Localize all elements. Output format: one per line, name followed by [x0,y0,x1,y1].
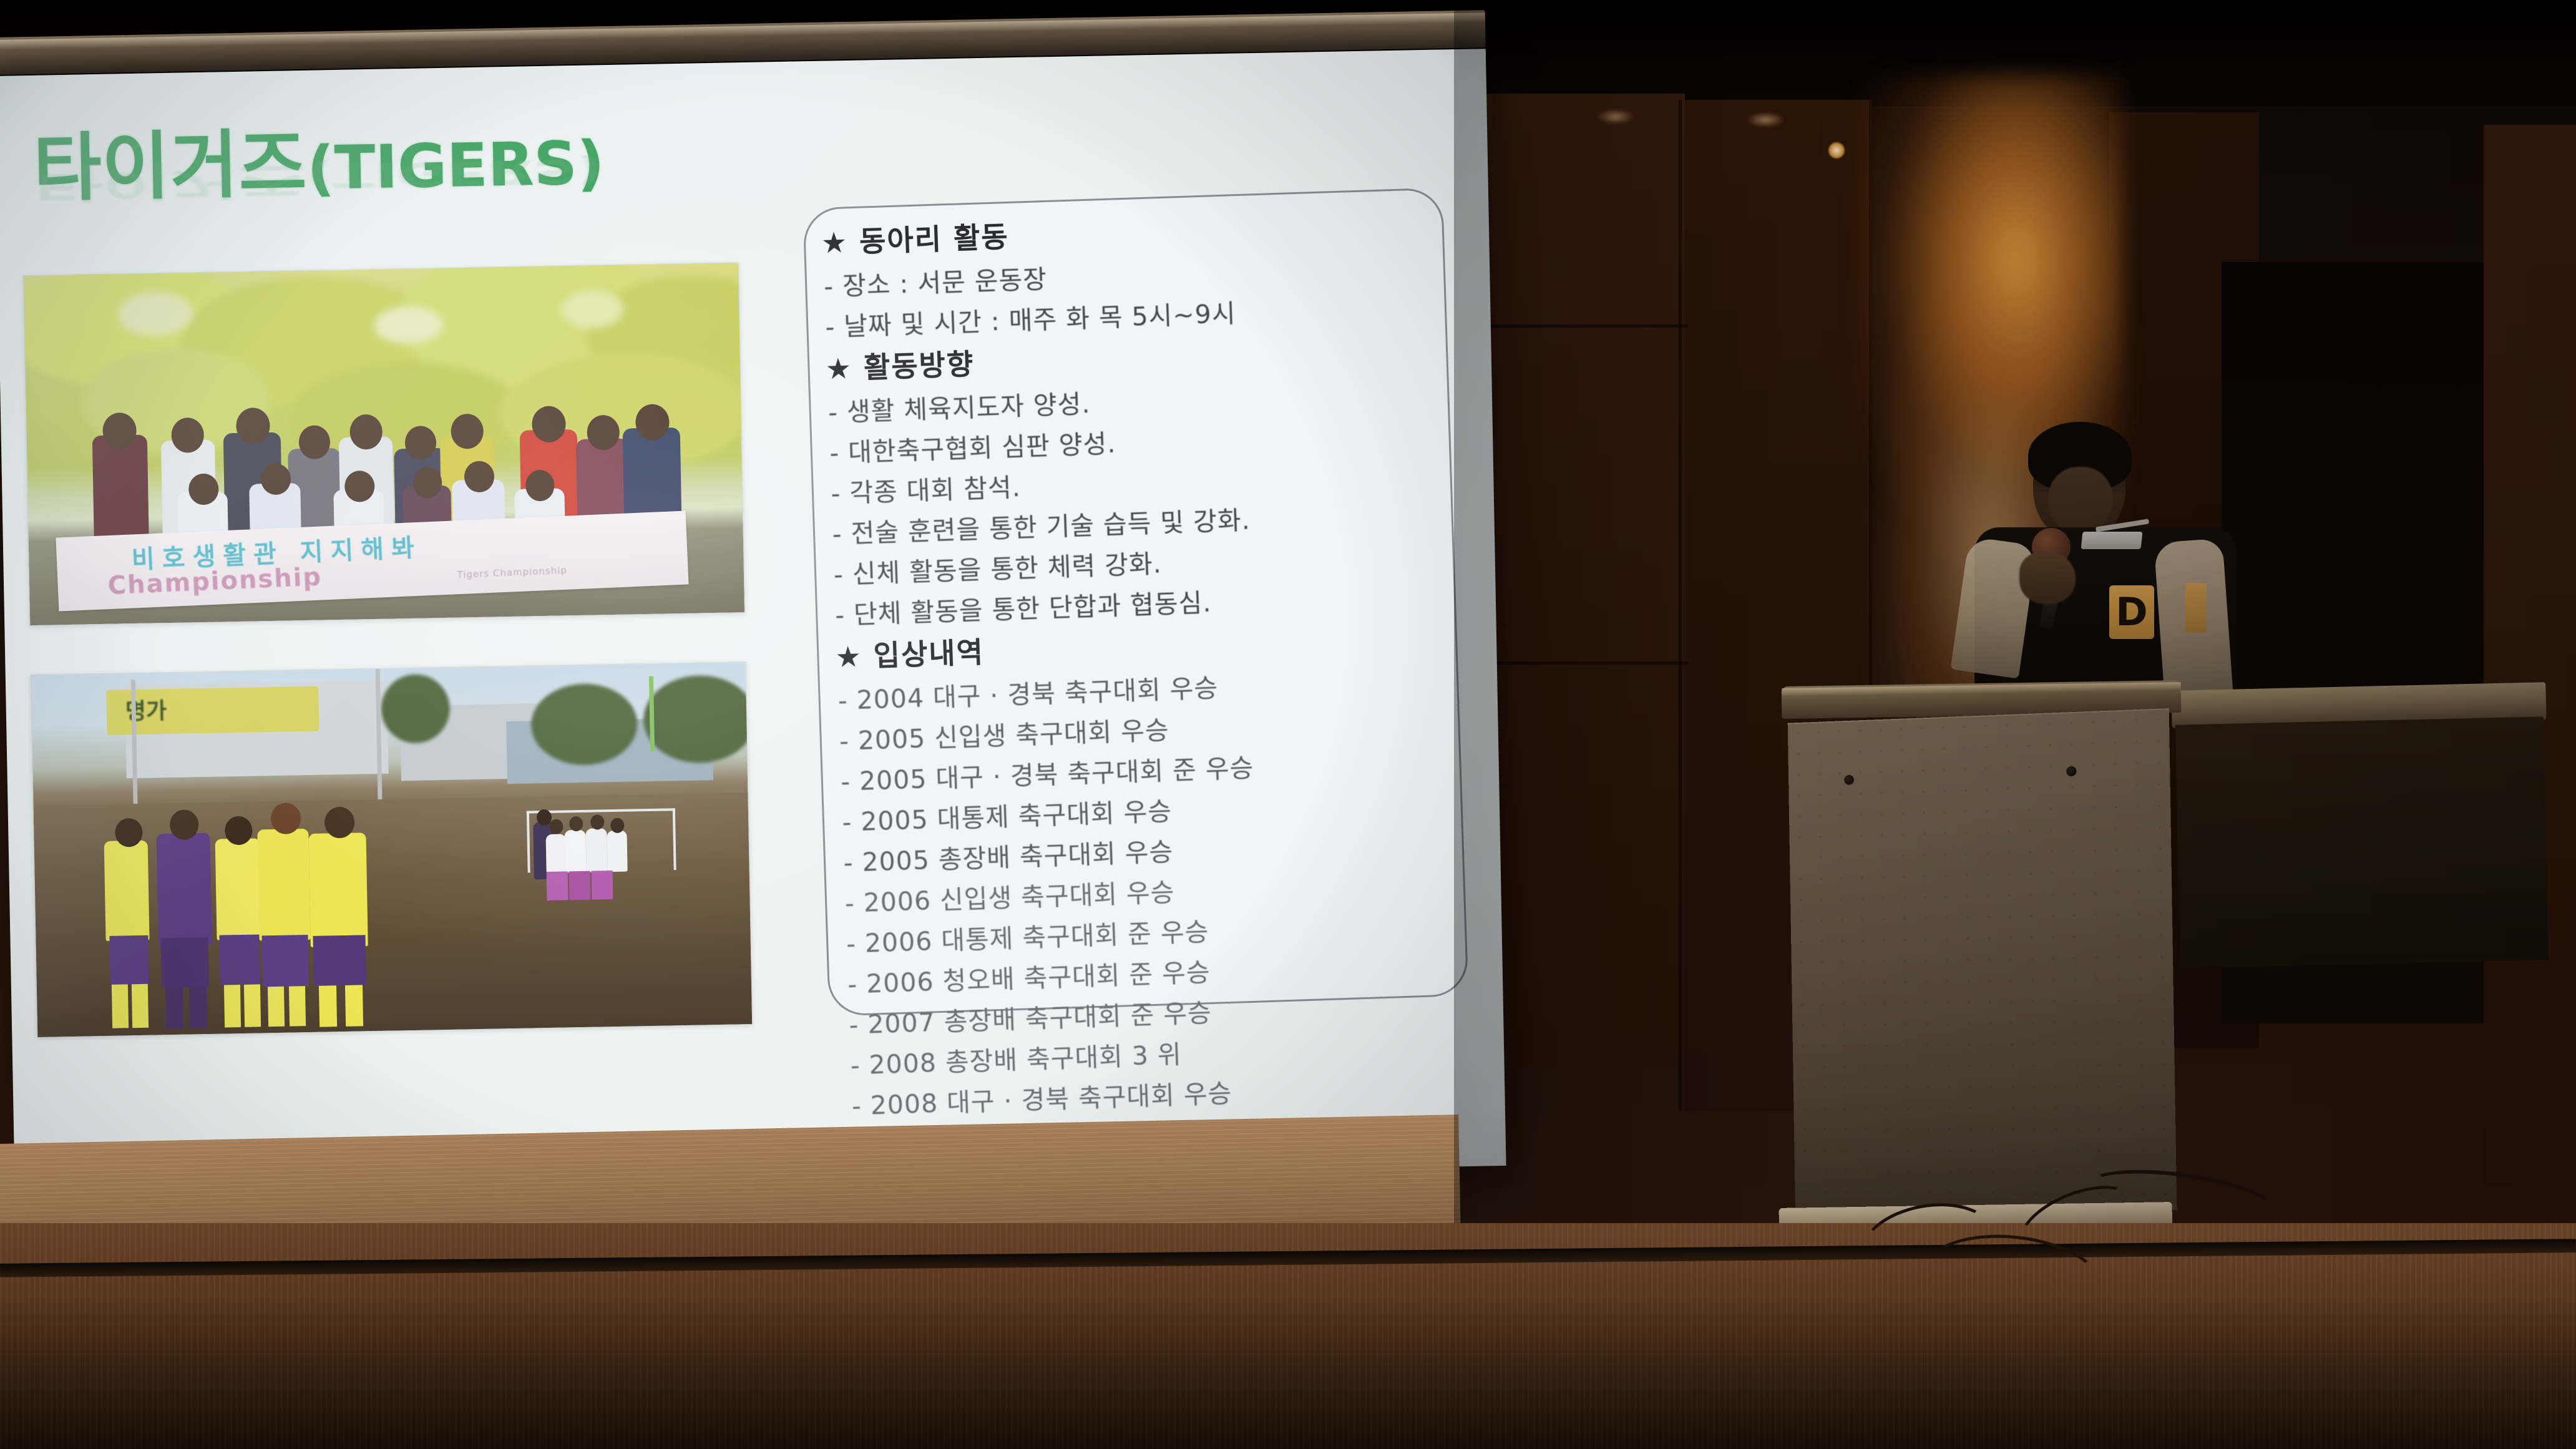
presenter: D [1953,418,2253,686]
player-socks [319,985,337,1027]
player-socks [345,985,363,1027]
player [308,832,368,947]
podium-desk-extension-body [2175,716,2549,968]
wood-panel-far-right [2484,125,2576,1186]
player-socks [224,985,241,1027]
player-shorts [109,935,149,985]
varsity-letter-patch-secondary [2185,583,2207,633]
player [607,831,627,872]
wall-seam-1 [1679,100,1682,1111]
projection-screen: 타이거즈(TIGERS) 타이거즈(TIGERS) [0,10,1513,1217]
auditorium-scene: 타이거즈(TIGERS) 타이거즈(TIGERS) [0,0,2576,1449]
player-goalkeeper [156,833,212,947]
varsity-letter-patch: D [2109,585,2154,639]
player-shorts [261,935,308,987]
group-photo-with-banner: 비호생활관 지지해봐 Championship Tigers Champions… [23,262,745,626]
player [564,830,586,873]
presenter-face [2048,467,2113,535]
player-shorts [569,871,591,900]
player-shorts [160,937,208,988]
player-socks [268,987,285,1027]
person [92,435,149,549]
player-socks [244,984,261,1027]
player-socks [189,987,207,1029]
soccer-match-huddle-photo: 명가 [31,661,753,1038]
projected-slide: 타이거즈(TIGERS) 타이거즈(TIGERS) [0,49,1506,1193]
player-socks [132,984,149,1028]
banner-small-text: Tigers Championship [457,565,567,581]
player [585,828,607,872]
podium-front-panel [1788,708,2177,1210]
player [546,834,567,873]
player-shorts [219,934,260,985]
recessed-ceiling-light-1 [1598,109,1634,124]
wall-spot-light [1828,142,1845,159]
recessed-ceiling-light-2 [1747,112,1783,127]
player-socks [165,988,183,1030]
player-socks [112,984,129,1028]
player-shorts [547,871,568,900]
player [104,841,150,941]
player-shorts [313,935,366,986]
player-shorts [592,871,613,900]
player [257,829,310,940]
slide-text-content: ★ 동아리 활동 - 장소 : 서문 운동장 - 날짜 및 시간 : 매주 화 … [812,200,1476,1193]
player [215,838,262,940]
presenter-collar [2081,532,2143,549]
player-socks [289,986,306,1026]
presenter-hand [2019,552,2076,604]
